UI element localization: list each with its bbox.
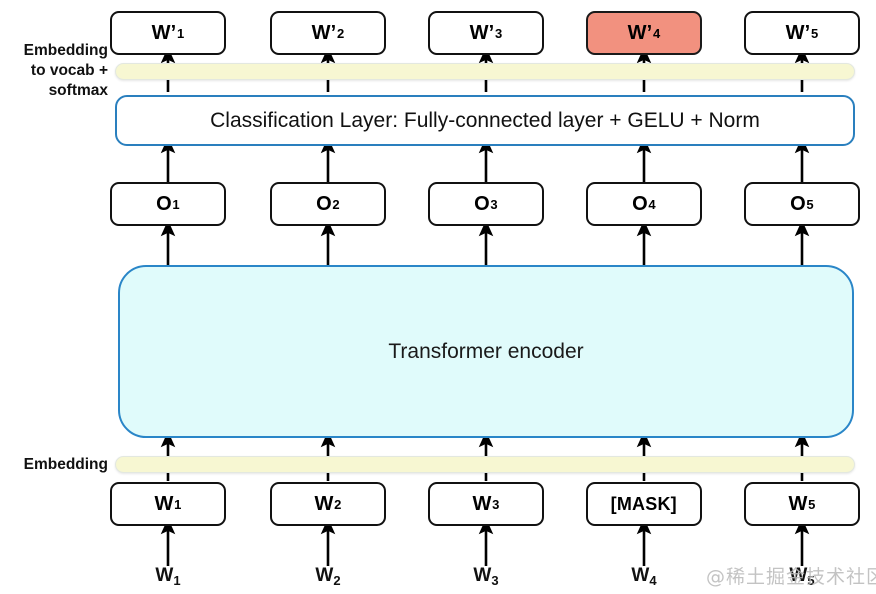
input-word-2: W2	[270, 565, 386, 588]
hidden-token-box-4[interactable]: O4	[586, 182, 702, 226]
input-token-box-4-mask[interactable]: [MASK]	[586, 482, 702, 526]
input-word-sub-1: 1	[173, 573, 180, 588]
input-word-1: W1	[110, 565, 226, 588]
input-word-base-4: W	[631, 565, 649, 586]
input-token-sub-5: 5	[808, 497, 815, 512]
output-token-sub-4: 4	[653, 26, 660, 41]
input-word-sub-4: 4	[649, 573, 656, 588]
hidden-token-box-1[interactable]: O1	[110, 182, 226, 226]
input-token-base-5: W	[788, 493, 807, 516]
input-token-base-3: W	[472, 493, 491, 516]
output-token-box-5[interactable]: W’5	[744, 11, 860, 55]
hidden-token-base-1: O	[156, 193, 172, 216]
output-token-base-3: W’	[470, 22, 495, 45]
embedding-to-vocab-bar	[115, 63, 855, 80]
input-word-base-2: W	[315, 565, 333, 586]
input-word-sub-3: 3	[491, 573, 498, 588]
hidden-token-base-5: O	[790, 193, 806, 216]
input-token-box-5[interactable]: W5	[744, 482, 860, 526]
input-token-sub-2: 2	[334, 497, 341, 512]
output-token-base-2: W’	[312, 22, 337, 45]
hidden-token-base-3: O	[474, 193, 490, 216]
input-token-box-1[interactable]: W1	[110, 482, 226, 526]
input-token-base-1: W	[154, 493, 173, 516]
output-token-box-1[interactable]: W’1	[110, 11, 226, 55]
transformer-encoder-box[interactable]: Transformer encoder	[118, 265, 854, 438]
input-token-base-2: W	[314, 493, 333, 516]
output-token-sub-2: 2	[337, 26, 344, 41]
input-token-sub-1: 1	[174, 497, 181, 512]
input-word-4: W4	[586, 565, 702, 588]
diagram-canvas: Embedding to vocab + softmax Embedding W…	[0, 0, 876, 594]
output-token-box-3[interactable]: W’3	[428, 11, 544, 55]
input-token-box-2[interactable]: W2	[270, 482, 386, 526]
output-token-base-1: W’	[152, 22, 177, 45]
hidden-token-box-3[interactable]: O3	[428, 182, 544, 226]
hidden-token-box-5[interactable]: O5	[744, 182, 860, 226]
output-token-base-4: W’	[628, 22, 653, 45]
output-token-sub-5: 5	[811, 26, 818, 41]
transformer-encoder-label: Transformer encoder	[388, 340, 583, 364]
hidden-token-sub-1: 1	[172, 197, 179, 212]
output-token-base-5: W’	[786, 22, 811, 45]
output-token-box-4-masked[interactable]: W’4	[586, 11, 702, 55]
input-word-base-3: W	[473, 565, 491, 586]
hidden-token-base-4: O	[632, 193, 648, 216]
label-line-3: softmax	[4, 81, 108, 101]
embedding-bar	[115, 456, 855, 473]
output-token-sub-3: 3	[495, 26, 502, 41]
input-token-base-4: [MASK]	[611, 494, 677, 515]
label-line-1: Embedding	[4, 41, 108, 61]
input-word-3: W3	[428, 565, 544, 588]
classification-layer-box[interactable]: Classification Layer: Fully-connected la…	[115, 95, 855, 146]
label-line-2: to vocab +	[4, 61, 108, 81]
input-token-box-3[interactable]: W3	[428, 482, 544, 526]
hidden-token-sub-5: 5	[806, 197, 813, 212]
input-word-sub-2: 2	[333, 573, 340, 588]
input-word-base-1: W	[155, 565, 173, 586]
hidden-token-base-2: O	[316, 193, 332, 216]
hidden-token-sub-3: 3	[490, 197, 497, 212]
output-token-box-2[interactable]: W’2	[270, 11, 386, 55]
hidden-token-box-2[interactable]: O2	[270, 182, 386, 226]
label-embedding: Embedding	[4, 455, 108, 475]
hidden-token-sub-2: 2	[332, 197, 339, 212]
label-embedding-to-vocab-softmax: Embedding to vocab + softmax	[4, 41, 108, 100]
input-token-sub-3: 3	[492, 497, 499, 512]
hidden-token-sub-4: 4	[648, 197, 655, 212]
watermark-text: @稀土掘金技术社区	[706, 562, 876, 589]
classification-layer-label: Classification Layer: Fully-connected la…	[210, 109, 760, 133]
output-token-sub-1: 1	[177, 26, 184, 41]
